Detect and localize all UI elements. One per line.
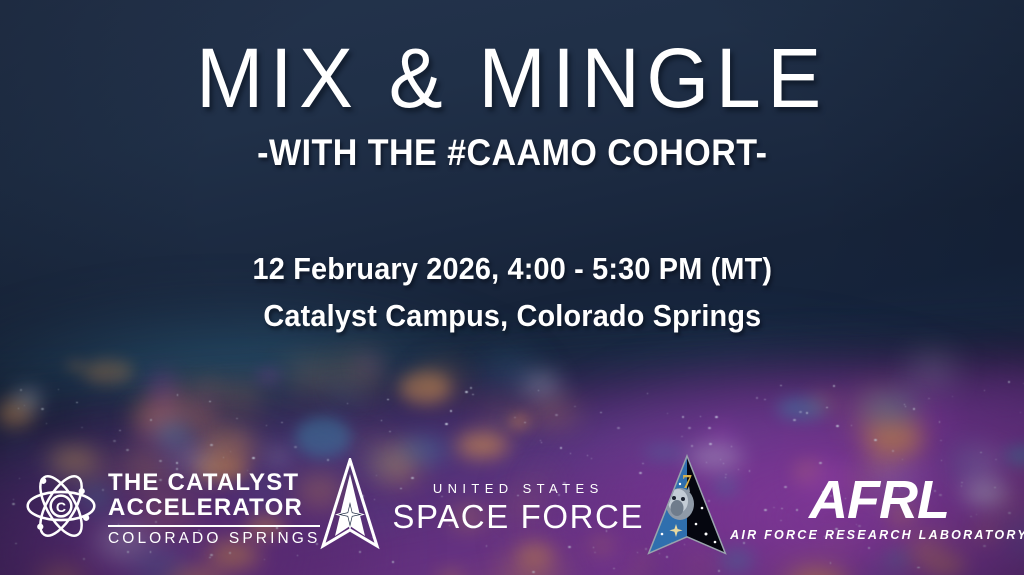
- squadron-delta-patch-icon: 7: [644, 454, 730, 563]
- page-title: MIX & MINGLE: [196, 36, 828, 120]
- logo-space-force: UNITED STATES SPACE FORCE: [320, 458, 644, 559]
- afrl-wordmark: AFRL AIR FORCE RESEARCH LABORATORY: [730, 474, 1024, 543]
- atom-icon: C: [24, 469, 98, 548]
- space-force-delta-icon: [320, 458, 380, 559]
- event-datetime: 12 February 2026, 4:00 - 5:30 PM (MT): [252, 245, 772, 292]
- event-flyer: MIX & MINGLE -WITH THE #CAAMO COHORT- 12…: [0, 0, 1024, 575]
- afrl-line-1: AFRL: [809, 474, 949, 527]
- catalyst-line-3: COLORADO SPRINGS: [108, 530, 320, 547]
- afrl-line-2: AIR FORCE RESEARCH LABORATORY: [730, 529, 1024, 543]
- space-force-line-2: SPACE FORCE: [392, 499, 644, 536]
- logo-catalyst-accelerator: C THE CATALYST ACCELERATOR COLORADO SPRI…: [24, 469, 320, 548]
- catalyst-wordmark: THE CATALYST ACCELERATOR COLORADO SPRING…: [108, 470, 320, 547]
- catalyst-line-2: ACCELERATOR: [108, 495, 320, 520]
- atom-nucleus-letter: C: [56, 499, 66, 515]
- event-location: Catalyst Campus, Colorado Springs: [252, 292, 772, 339]
- page-subtitle: -WITH THE #CAAMO COHORT-: [257, 134, 767, 171]
- event-details: 12 February 2026, 4:00 - 5:30 PM (MT) Ca…: [233, 245, 792, 339]
- space-force-wordmark: UNITED STATES SPACE FORCE: [392, 481, 644, 537]
- logo-afrl: AFRL AIR FORCE RESEARCH LABORATORY: [730, 474, 1024, 543]
- squadron-number: 7: [682, 471, 692, 493]
- catalyst-line-1: THE CATALYST: [108, 470, 320, 495]
- space-force-line-1: UNITED STATES: [433, 481, 604, 497]
- catalyst-divider: [108, 525, 320, 527]
- sponsor-logo-bar: C THE CATALYST ACCELERATOR COLORADO SPRI…: [0, 454, 1024, 563]
- logo-squadron-patch: 7: [644, 454, 730, 563]
